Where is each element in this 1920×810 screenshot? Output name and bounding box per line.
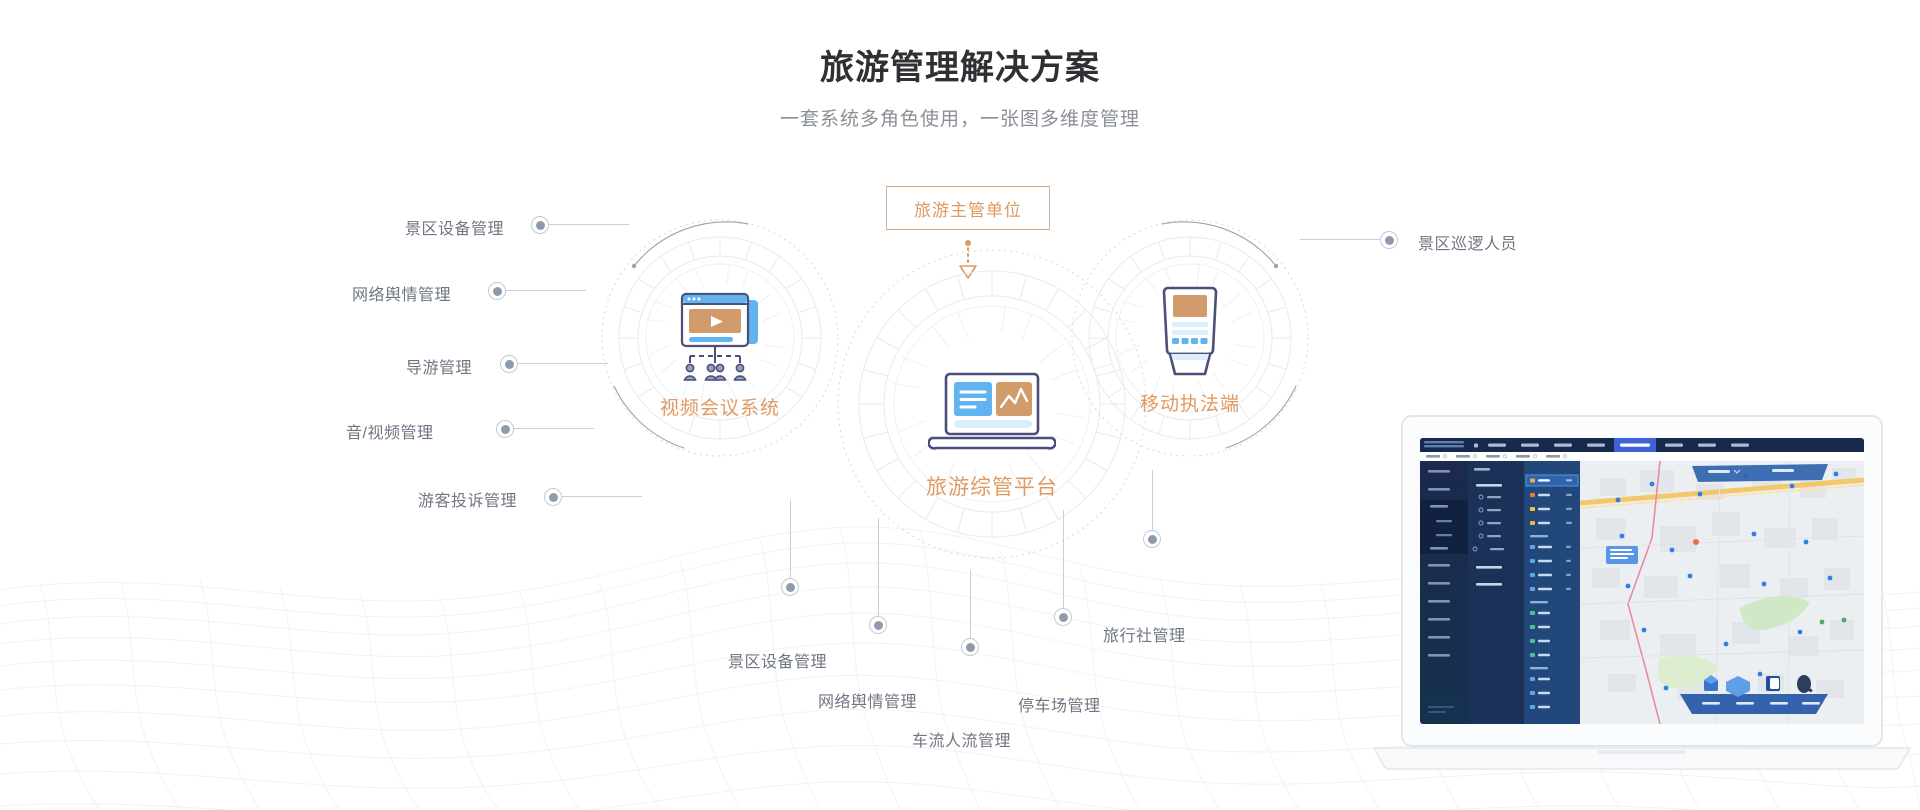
node-video-conference: 视频会议系统 (640, 292, 800, 420)
left-label-1[interactable]: 网络舆情管理 (352, 281, 451, 305)
bottom-label-4[interactable]: 旅行社管理 (1103, 622, 1186, 646)
bracket-corner-right (1040, 187, 1050, 229)
bottom-connector-1 (878, 518, 879, 618)
left-dot-4[interactable] (544, 488, 562, 506)
right-connector-0 (1300, 239, 1380, 240)
left-label-3[interactable]: 音/视频管理 (346, 419, 433, 443)
laptop-dashboard-icon (928, 372, 1056, 456)
left-dot-1[interactable] (488, 282, 506, 300)
handheld-terminal-icon (1152, 284, 1228, 380)
node-tourism-platform: 旅游综管平台 (902, 372, 1082, 501)
left-label-0[interactable]: 景区设备管理 (405, 215, 504, 239)
bottom-label-1[interactable]: 网络舆情管理 (818, 688, 917, 712)
bottom-dot-1[interactable] (869, 616, 887, 634)
video-window-icon (670, 292, 770, 384)
node-caption-mobile-enforcement: 移动执法端 (1110, 389, 1270, 416)
left-connector-3 (514, 428, 594, 429)
bottom-label-0[interactable]: 景区设备管理 (728, 648, 827, 672)
laptop-product-preview[interactable] (1360, 408, 1920, 798)
bottom-dot-2[interactable] (961, 638, 979, 656)
left-connector-2 (518, 363, 608, 364)
bottom-dot-4[interactable] (1143, 530, 1161, 548)
authority-label: 旅游主管单位 (914, 196, 1022, 221)
left-connector-4 (562, 496, 642, 497)
bottom-connector-3 (1063, 510, 1064, 610)
bottom-connector-4 (1152, 470, 1153, 532)
left-dot-2[interactable] (500, 355, 518, 373)
node-caption-tourism-platform: 旅游综管平台 (902, 471, 1082, 501)
bottom-connector-0 (790, 500, 791, 580)
left-dot-3[interactable] (496, 420, 514, 438)
right-label-0[interactable]: 景区巡逻人员 (1418, 230, 1517, 254)
page-subtitle: 一套系统多角色使用，一张图多维度管理 (0, 104, 1920, 131)
left-connector-0 (549, 224, 629, 225)
bottom-dot-3[interactable] (1054, 608, 1072, 626)
left-label-4[interactable]: 游客投诉管理 (418, 487, 517, 511)
bottom-label-3[interactable]: 停车场管理 (1018, 692, 1101, 716)
bottom-connector-2 (970, 570, 971, 640)
poster-canvas: 旅游管理解决方案 一套系统多角色使用，一张图多维度管理 旅游主管单位 (0, 0, 1920, 810)
left-connector-1 (506, 290, 586, 291)
right-dot-0[interactable] (1380, 231, 1398, 249)
node-mobile-enforcement: 移动执法端 (1110, 284, 1270, 416)
left-dot-0[interactable] (531, 216, 549, 234)
node-caption-video-conference: 视频会议系统 (640, 393, 800, 420)
left-label-2[interactable]: 导游管理 (406, 354, 472, 378)
bracket-corner-left (886, 187, 896, 229)
page-title: 旅游管理解决方案 (0, 40, 1920, 89)
authority-box: 旅游主管单位 (886, 186, 1050, 230)
bottom-dot-0[interactable] (781, 578, 799, 596)
bottom-label-2[interactable]: 车流人流管理 (912, 727, 1011, 751)
